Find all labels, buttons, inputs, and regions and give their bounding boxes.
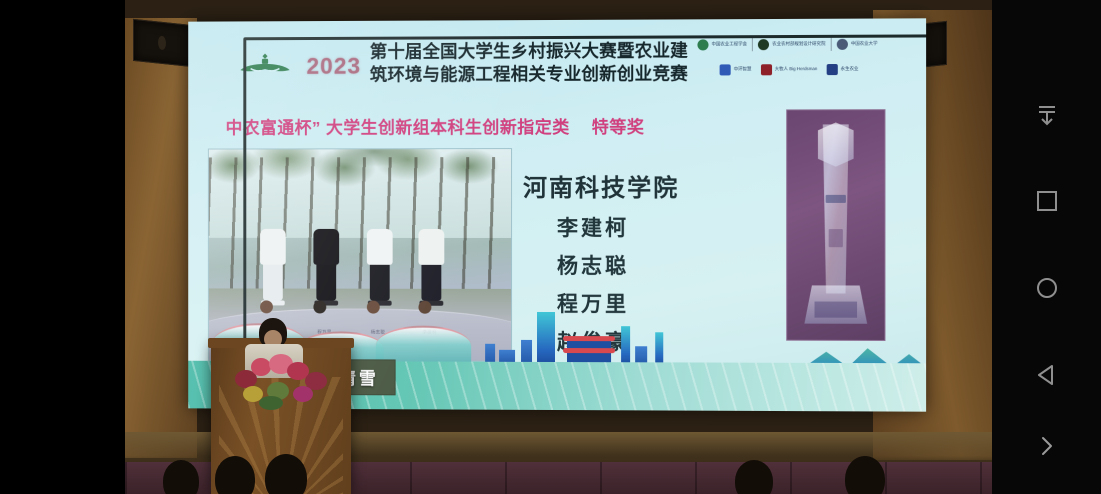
back-icon[interactable] <box>1026 354 1068 396</box>
photo-person <box>367 228 393 306</box>
sponsor-mark-icon <box>697 39 708 50</box>
award-level: 特等奖 <box>592 118 645 137</box>
sponsor-row-top: 中国农业工程学会 农业农村部规划设计研究院 中国农业大学 <box>697 35 895 54</box>
sponsor-mark-icon <box>758 39 769 50</box>
sponsor-logo: 中国农业大学 <box>837 38 878 49</box>
trophy-logo-etch <box>826 195 846 203</box>
photo-person <box>260 228 286 306</box>
sponsor-name: 大牧人 Big Herdsman <box>775 67 818 72</box>
sponsor-divider <box>831 37 832 50</box>
android-navigation-bar <box>992 0 1101 494</box>
recents-icon[interactable] <box>1026 180 1068 222</box>
sponsor-mark-icon <box>826 64 837 75</box>
flower-arrangement <box>225 352 341 412</box>
home-icon[interactable] <box>1026 267 1068 309</box>
member-name: 李建柯 <box>557 212 629 242</box>
photo-person <box>418 228 444 306</box>
sponsor-mark-icon <box>761 64 772 75</box>
sponsor-name: 中环智慧 <box>734 67 752 71</box>
wings-emblem-logo <box>239 51 290 81</box>
photo-person <box>313 228 339 306</box>
video-frame[interactable]: 2023 第十届全国大学生乡村振兴大赛暨农业建 筑环境与能源工程相关专业创新创业… <box>125 0 992 494</box>
sponsor-logo: 中环智慧 <box>720 64 752 75</box>
sponsor-divider <box>752 38 753 51</box>
trophy-text-etch <box>829 229 843 247</box>
sponsor-logos: 中国农业工程学会 农业农村部规划设计研究院 中国农业大学 <box>697 35 895 86</box>
wall-speaker-left <box>133 19 193 67</box>
sponsor-name: 永生农业 <box>841 67 859 71</box>
member-name: 杨志聪 <box>557 250 629 280</box>
sponsor-logo: 大牧人 Big Herdsman <box>761 64 818 75</box>
photo-trunks <box>209 158 511 289</box>
slide-subtitle-text: 中农富通杯” 大学生创新组本科生创新指定类 <box>226 118 570 138</box>
sponsor-name: 中国农业工程学会 <box>712 42 747 47</box>
sponsor-logo: 永生农业 <box>826 63 858 74</box>
sponsor-name: 中国农业大学 <box>851 42 878 47</box>
screen-root: 2023 第十届全国大学生乡村振兴大赛暨农业建 筑环境与能源工程相关专业创新创业… <box>0 0 1101 494</box>
sponsor-mark-icon <box>720 64 731 75</box>
slide-header: 2023 第十届全国大学生乡村振兴大赛暨农业建 筑环境与能源工程相关专业创新创业… <box>188 18 926 107</box>
sponsor-logo: 中国农业工程学会 <box>697 39 747 50</box>
collapse-navbar-icon[interactable] <box>1026 94 1068 136</box>
expand-chevron-icon[interactable] <box>1026 425 1068 467</box>
wall-left <box>125 18 197 458</box>
trophy-crown <box>814 122 859 166</box>
sponsor-logo: 农业农村部规划设计研究院 <box>758 38 825 49</box>
audience-row <box>125 434 992 494</box>
sponsor-name: 农业农村部规划设计研究院 <box>772 42 825 47</box>
organization-name: 河南科技学院 <box>523 168 679 203</box>
slide-year: 2023 <box>306 53 361 80</box>
sponsor-mark-icon <box>837 38 848 49</box>
sponsor-row-bottom: 中环智慧 大牧人 Big Herdsman 永生农业 <box>697 60 895 79</box>
letterbox-left <box>0 0 125 494</box>
